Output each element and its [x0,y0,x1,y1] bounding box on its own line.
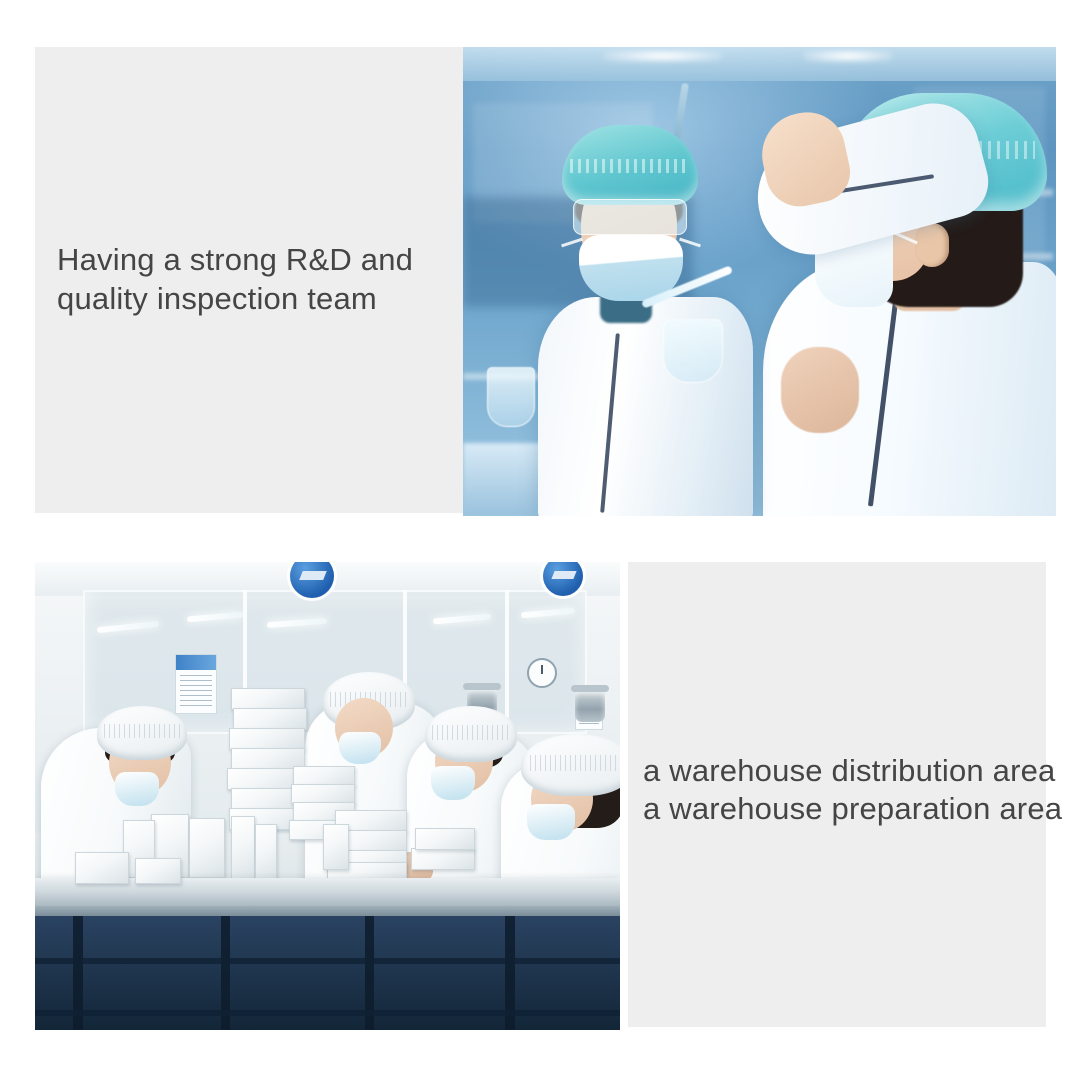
hair-net-icon [97,706,187,760]
flask-icon [663,319,723,383]
ear-icon [915,223,949,267]
warehouse-packing-photo [35,562,620,1030]
hair-net-icon [521,734,620,796]
carton [323,824,349,870]
carton [291,784,355,804]
stainless-container-icon [575,690,605,722]
rnd-caption-line-1: Having a strong R&D and [57,240,413,279]
safety-goggles-icon [573,199,687,235]
flask-icon [487,367,535,427]
carton [293,766,355,786]
carton [255,824,277,880]
collage-page: Having a strong R&D and quality inspecti… [0,0,1080,1080]
carton [233,708,307,730]
carton [75,852,129,884]
face-mask-icon [339,732,381,764]
ceiling-lamp-icon [803,49,893,63]
carton [189,818,225,878]
stainless-table-edge [35,906,620,916]
lab-inspection-photo [463,47,1056,516]
ceiling-lamp-icon [603,49,723,63]
carton [229,728,305,750]
window-mullion [505,590,509,730]
notice-board [175,654,217,714]
warehouse-caption-line-1: a warehouse distribution area [643,752,1062,790]
warehouse-caption-line-2: a warehouse preparation area [643,790,1062,828]
wall-clock-icon [527,658,557,688]
face-mask-icon [115,772,159,806]
carton [411,848,475,870]
hair-net-cap-icon [562,125,698,205]
carton [231,816,255,880]
lab-ceiling [463,47,1056,81]
table-rail [35,958,620,964]
table-rail [35,1010,620,1016]
face-mask-icon [527,804,575,840]
warehouse-caption: a warehouse distribution area a warehous… [643,752,1062,828]
rnd-caption-line-2: quality inspection team [57,279,413,318]
hand-icon [781,347,859,433]
face-mask-icon [431,766,475,800]
carton [135,858,181,884]
carton [415,828,475,850]
carton [231,688,305,710]
hair-net-icon [425,706,517,762]
rnd-caption: Having a strong R&D and quality inspecti… [57,240,413,318]
